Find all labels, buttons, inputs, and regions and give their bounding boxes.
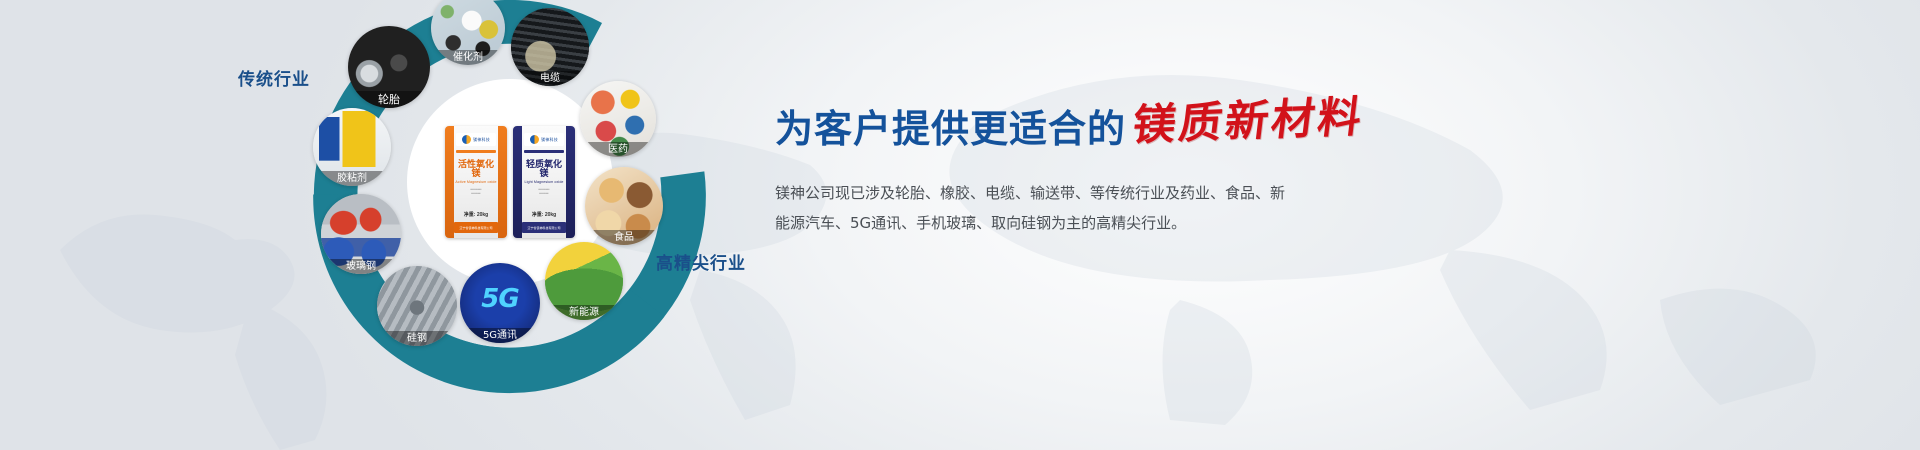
banner-copy: 为客户提供更适合的 镁质新材料 镁神公司现已涉及轮胎、橡胶、电缆、输送带、等传统… <box>775 105 1535 238</box>
brand-mark-icon <box>462 135 471 144</box>
bag-side-left <box>513 126 522 238</box>
node-frp[interactable]: 玻璃钢 <box>321 194 401 274</box>
banner-paragraph: 镁神公司现已涉及轮胎、橡胶、电缆、输送带、等传统行业及药业、食品、新 能源汽车、… <box>775 178 1280 238</box>
product-name: 轻质氧化镁 Light Magnesium oxide <box>522 160 566 185</box>
bag-stripe <box>456 150 496 153</box>
node-label: 新能源 <box>545 305 623 320</box>
product-footer: 辽宁省镁神科技有限公司 <box>522 222 566 233</box>
product-name: 活性氧化镁 Active Magnesium oxide <box>454 160 498 185</box>
product-bag-light-mgo: 镁神科技 轻质氧化镁 Light Magnesium oxide ▪▪▪▪▪▪▪… <box>513 126 575 238</box>
bag-side-left <box>445 126 454 238</box>
node-label: 电缆 <box>511 71 589 86</box>
label-hightech-industries: 高精尖行业 <box>656 249 746 274</box>
node-label: 催化剂 <box>431 50 505 65</box>
brand-name: 镁神科技 <box>473 137 490 143</box>
product-name-en: Light Magnesium oxide <box>522 181 566 185</box>
paragraph-line-2: 能源汽车、5G通讯、手机玻璃、取向硅钢为主的高精尖行业。 <box>775 208 1280 238</box>
node-medicine[interactable]: 医药 <box>580 81 656 157</box>
node-food[interactable]: 食品 <box>585 167 663 245</box>
node-5g[interactable]: 5G 5G通讯 <box>460 263 540 343</box>
product-spec: 净重: 20kg <box>464 211 488 218</box>
product-microcopy: ▪▪▪▪▪▪▪▪▪▪▪▪▪▪▪▪▪▪▪▪▪▪ <box>454 188 498 196</box>
node-adhesive[interactable]: 胶粘剂 <box>313 108 391 186</box>
product-bag-active-mgo: 镁神科技 活性氧化镁 Active Magnesium oxide ▪▪▪▪▪▪… <box>445 126 507 238</box>
fiveg-badge-text: 5G <box>481 284 518 314</box>
node-label: 硅钢 <box>377 331 457 346</box>
bag-stripe <box>524 150 564 153</box>
node-label: 5G通讯 <box>460 328 540 343</box>
bag-side-right <box>566 126 575 238</box>
headline: 为客户提供更适合的 镁质新材料 <box>775 105 1535 148</box>
label-traditional-industries: 传统行业 <box>238 65 310 90</box>
brand-logo: 镁神科技 <box>456 133 496 146</box>
node-label: 医药 <box>580 142 656 157</box>
headline-red-text: 镁质新材料 <box>1130 96 1366 148</box>
node-silicon[interactable]: 硅钢 <box>377 266 457 346</box>
node-catalyst[interactable]: 催化剂 <box>431 0 505 65</box>
industry-diagram: 镁神科技 活性氧化镁 Active Magnesium oxide ▪▪▪▪▪▪… <box>300 0 720 406</box>
paragraph-line-1: 镁神公司现已涉及轮胎、橡胶、电缆、输送带、等传统行业及药业、食品、新 <box>775 178 1280 208</box>
brand-logo: 镁神科技 <box>524 133 564 146</box>
banner-root: 镁神科技 活性氧化镁 Active Magnesium oxide ▪▪▪▪▪▪… <box>0 0 1920 450</box>
node-cable[interactable]: 电缆 <box>511 8 589 86</box>
node-newenergy[interactable]: 新能源 <box>545 242 623 320</box>
bag-side-right <box>498 126 507 238</box>
node-label: 轮胎 <box>348 91 430 108</box>
product-footer: 辽宁省镁神科技有限公司 <box>454 222 498 233</box>
node-label: 胶粘剂 <box>313 171 391 186</box>
headline-blue-text: 为客户提供更适合的 <box>775 110 1126 148</box>
brand-mark-icon <box>530 135 539 144</box>
product-name-en: Active Magnesium oxide <box>454 181 498 185</box>
brand-name: 镁神科技 <box>541 137 558 143</box>
node-tire[interactable]: 轮胎 <box>348 26 430 108</box>
product-spec: 净重: 20kg <box>532 211 556 218</box>
product-microcopy: ▪▪▪▪▪▪▪▪▪▪▪▪▪▪▪▪▪▪▪▪▪▪ <box>522 188 566 196</box>
